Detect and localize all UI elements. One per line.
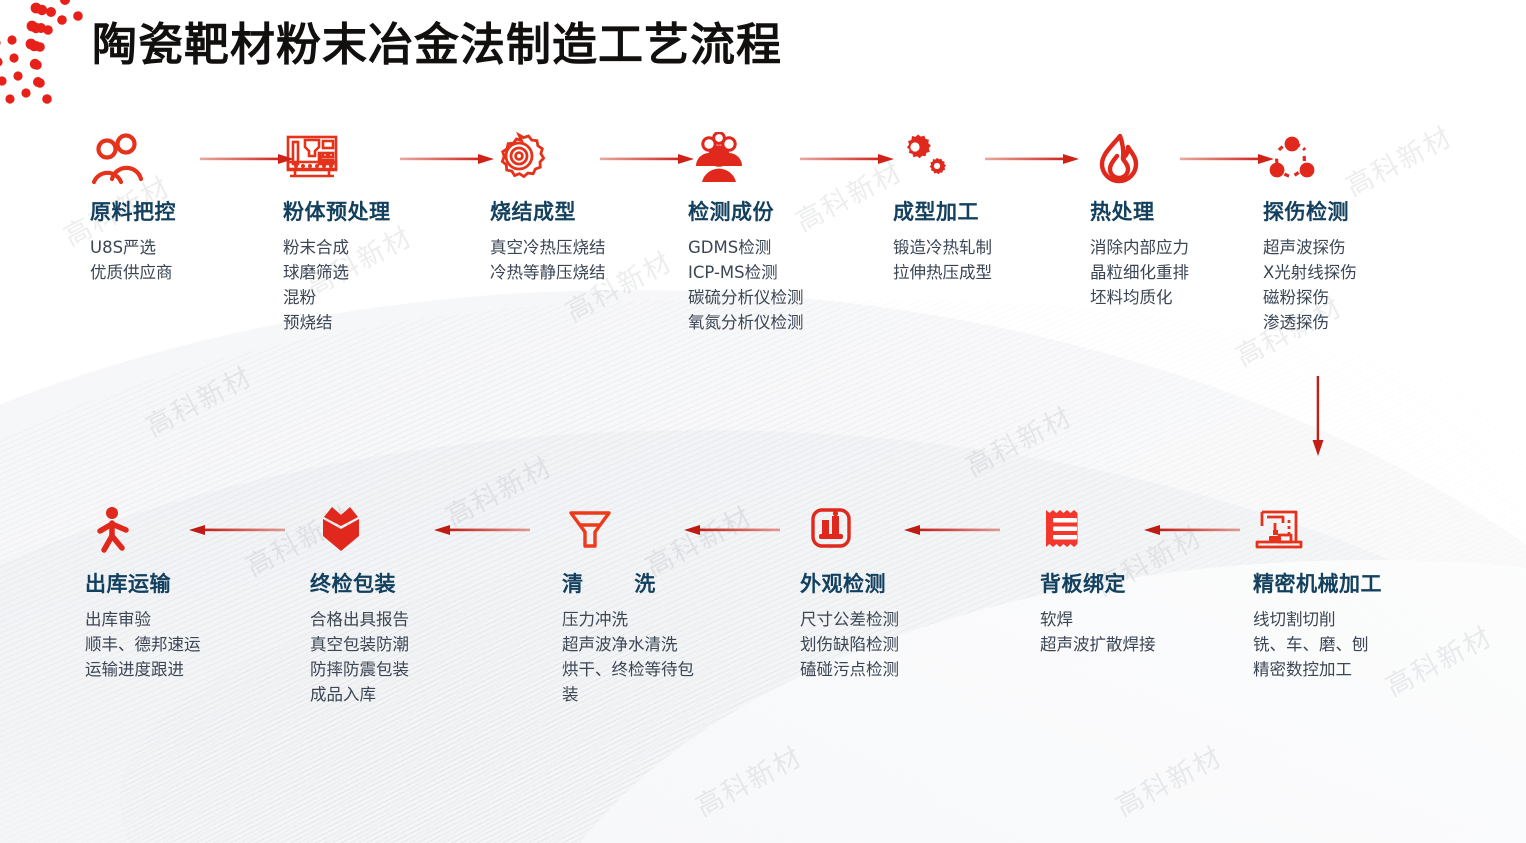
- arrow-right-5: [985, 152, 1083, 166]
- background-decoration: 高科新材 高科新材 高科新材 高科新材 高科新材 高科新材 高科新材 高科新材 …: [0, 0, 1526, 843]
- list-item: 线切割切削: [1253, 607, 1382, 632]
- open-box-icon: [310, 500, 409, 556]
- arrow-left-2: [430, 523, 530, 537]
- step-detail-list: 锻造冷热轧制 拉伸热压成型: [893, 235, 992, 285]
- list-item: 超声波探伤: [1263, 235, 1357, 260]
- step-title: 成型加工: [893, 196, 992, 226]
- step-detail-list: 尺寸公差检测 划伤缺陷检测 磕碰污点检测: [800, 607, 899, 682]
- step-title: 出库运输: [85, 568, 201, 598]
- list-item: 成品入库: [310, 682, 409, 707]
- walking-person-icon: [85, 500, 201, 556]
- step-title: 烧结成型: [490, 196, 606, 226]
- step-detail-list: 粉末合成 球磨筛选 混粉 预烧结: [283, 235, 391, 335]
- people-group-icon: [688, 128, 804, 184]
- list-item: 防摔防震包装: [310, 657, 409, 682]
- step-backplate-bonding[interactable]: 背板绑定 软焊 超声波扩散焊接: [1040, 500, 1156, 657]
- list-item: 烘干、终检等待包装: [562, 657, 700, 707]
- gears-icon: [893, 128, 992, 184]
- watermark: 高科新材: [138, 355, 259, 444]
- list-item: 磕碰污点检测: [800, 657, 899, 682]
- step-heat-treatment[interactable]: 热处理 消除内部应力 晶粒细化重排 坯料均质化: [1090, 128, 1189, 310]
- flame-icon: [1090, 128, 1189, 184]
- step-title: 原料把控: [90, 196, 176, 226]
- list-item: 真空包装防潮: [310, 632, 409, 657]
- arrow-right-2: [400, 152, 498, 166]
- step-detail-list: U8S严选 优质供应商: [90, 235, 176, 285]
- list-item: 超声波净水清洗: [562, 632, 732, 657]
- watermark: 高科新材: [438, 445, 559, 534]
- step-detail-list: 压力冲洗 超声波净水清洗 烘干、终检等待包装: [562, 607, 732, 707]
- step-title: 粉体预处理: [283, 196, 391, 226]
- list-item: 渗透探伤: [1263, 310, 1357, 335]
- step-detail-list: 消除内部应力 晶粒细化重排 坯料均质化: [1090, 235, 1189, 310]
- arrow-left-4: [900, 523, 1000, 537]
- list-item: 精密数控加工: [1253, 657, 1382, 682]
- arrow-right-3: [600, 152, 698, 166]
- two-people-icon: [90, 128, 176, 184]
- step-powder-pretreatment[interactable]: 粉体预处理 粉末合成 球磨筛选 混粉 预烧结: [283, 128, 391, 335]
- step-detail-list: 超声波探伤 X光射线探伤 磁粉探伤 渗透探伤: [1263, 235, 1357, 335]
- step-title: 清 洗: [562, 568, 732, 598]
- step-title: 外观检测: [800, 568, 899, 598]
- list-item: 坯料均质化: [1090, 285, 1189, 310]
- gear-target-icon: [490, 128, 606, 184]
- list-item: 软焊: [1040, 607, 1156, 632]
- step-outbound-shipping[interactable]: 出库运输 出库审验 顺丰、德邦速运 运输进度跟进: [85, 500, 201, 682]
- list-item: 尺寸公差检测: [800, 607, 899, 632]
- cnc-machine-icon: [1253, 500, 1382, 556]
- list-item: 铣、车、磨、刨: [1253, 632, 1382, 657]
- list-item: 超声波扩散焊接: [1040, 632, 1156, 657]
- arrow-left-5: [1140, 523, 1240, 537]
- arrow-down-row-connector: [1311, 376, 1325, 460]
- arrow-left-1: [185, 523, 285, 537]
- list-item: 合格出具报告: [310, 607, 409, 632]
- bonding-plate-icon: [1040, 500, 1156, 556]
- list-item: 碳硫分析仪检测: [688, 285, 804, 310]
- step-forming-processing[interactable]: 成型加工 锻造冷热轧制 拉伸热压成型: [893, 128, 992, 285]
- step-appearance-inspection[interactable]: 外观检测 尺寸公差检测 划伤缺陷检测 磕碰污点检测: [800, 500, 899, 682]
- list-item: 出库审验: [85, 607, 201, 632]
- list-item: 优质供应商: [90, 260, 176, 285]
- list-item: 球磨筛选: [283, 260, 391, 285]
- arrow-right-1: [200, 152, 298, 166]
- list-item: 预烧结: [283, 310, 391, 335]
- step-composition-testing[interactable]: 检测成份 GDMS检测 ICP-MS检测 碳硫分析仪检测 氧氮分析仪检测: [688, 128, 804, 335]
- list-item: X光射线探伤: [1263, 260, 1357, 285]
- page-title: 陶瓷靶材粉末冶金法制造工艺流程: [92, 8, 782, 73]
- list-item: 真空冷热压烧结: [490, 235, 606, 260]
- list-item: 顺丰、德邦速运: [85, 632, 201, 657]
- step-title: 热处理: [1090, 196, 1189, 226]
- step-detail-list: 软焊 超声波扩散焊接: [1040, 607, 1156, 657]
- list-item: 锻造冷热轧制: [893, 235, 992, 260]
- list-item: 压力冲洗: [562, 607, 732, 632]
- step-title: 检测成份: [688, 196, 804, 226]
- arrow-right-6: [1180, 152, 1278, 166]
- step-sintering-forming[interactable]: 烧结成型 真空冷热压烧结 冷热等静压烧结: [490, 128, 606, 285]
- arrow-left-3: [680, 523, 780, 537]
- list-item: 磁粉探伤: [1263, 285, 1357, 310]
- step-detail-list: 出库审验 顺丰、德邦速运 运输进度跟进: [85, 607, 201, 682]
- step-title: 探伤检测: [1263, 196, 1357, 226]
- list-item: ICP-MS检测: [688, 260, 804, 285]
- list-item: 拉伸热压成型: [893, 260, 992, 285]
- machine-icon: [283, 128, 391, 184]
- list-item: 冷热等静压烧结: [490, 260, 606, 285]
- step-raw-material-control[interactable]: 原料把控 U8S严选 优质供应商: [90, 128, 176, 285]
- step-detail-list: 合格出具报告 真空包装防潮 防摔防震包装 成品入库: [310, 607, 409, 707]
- list-item: 粉末合成: [283, 235, 391, 260]
- step-final-inspection-packaging[interactable]: 终检包装 合格出具报告 真空包装防潮 防摔防震包装 成品入库: [310, 500, 409, 707]
- step-title: 背板绑定: [1040, 568, 1156, 598]
- watermark: 高科新材: [958, 395, 1079, 484]
- list-item: 运输进度跟进: [85, 657, 201, 682]
- inspection-icon: [800, 500, 899, 556]
- list-item: 混粉: [283, 285, 391, 310]
- step-detail-list: GDMS检测 ICP-MS检测 碳硫分析仪检测 氧氮分析仪检测: [688, 235, 804, 335]
- watermark: 高科新材: [688, 735, 809, 824]
- step-precision-machining[interactable]: 精密机械加工 线切割切削 铣、车、磨、刨 精密数控加工: [1253, 500, 1382, 682]
- list-item: GDMS检测: [688, 235, 804, 260]
- list-item: 消除内部应力: [1090, 235, 1189, 260]
- list-item: U8S严选: [90, 235, 176, 260]
- step-title: 精密机械加工: [1253, 568, 1382, 598]
- list-item: 晶粒细化重排: [1090, 260, 1189, 285]
- process-flow-poster: 高科新材 高科新材 高科新材 高科新材 高科新材 高科新材 高科新材 高科新材 …: [0, 0, 1526, 843]
- step-detail-list: 真空冷热压烧结 冷热等静压烧结: [490, 235, 606, 285]
- arrow-right-4: [800, 152, 898, 166]
- step-title: 终检包装: [310, 568, 409, 598]
- watermark: 高科新材: [1378, 615, 1499, 704]
- step-detail-list: 线切割切削 铣、车、磨、刨 精密数控加工: [1253, 607, 1382, 682]
- watermark: 高科新材: [1108, 735, 1229, 824]
- list-item: 划伤缺陷检测: [800, 632, 899, 657]
- list-item: 氧氮分析仪检测: [688, 310, 804, 335]
